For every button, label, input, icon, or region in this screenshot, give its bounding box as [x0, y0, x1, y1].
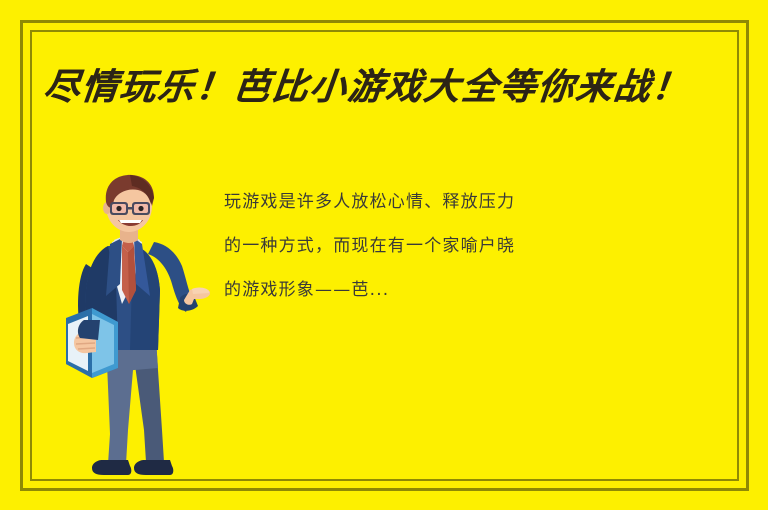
businessman-presenting-illustration	[62, 172, 210, 482]
shoe-right-shape	[134, 460, 173, 475]
body-paragraph: 玩游戏是许多人放松心情、释放压力的一种方式，而现在有一个家喻户晓的游戏形象——芭…	[224, 180, 524, 312]
shoe-left-shape	[92, 460, 131, 475]
teeth-shape	[119, 220, 142, 223]
poster-canvas: 尽情玩乐！芭比小游戏大全等你来战！	[0, 0, 768, 510]
cuff-left-shape	[78, 320, 100, 340]
hand-right-highlight-shape	[192, 288, 209, 294]
page-title: 尽情玩乐！芭比小游戏大全等你来战！	[41, 58, 736, 110]
